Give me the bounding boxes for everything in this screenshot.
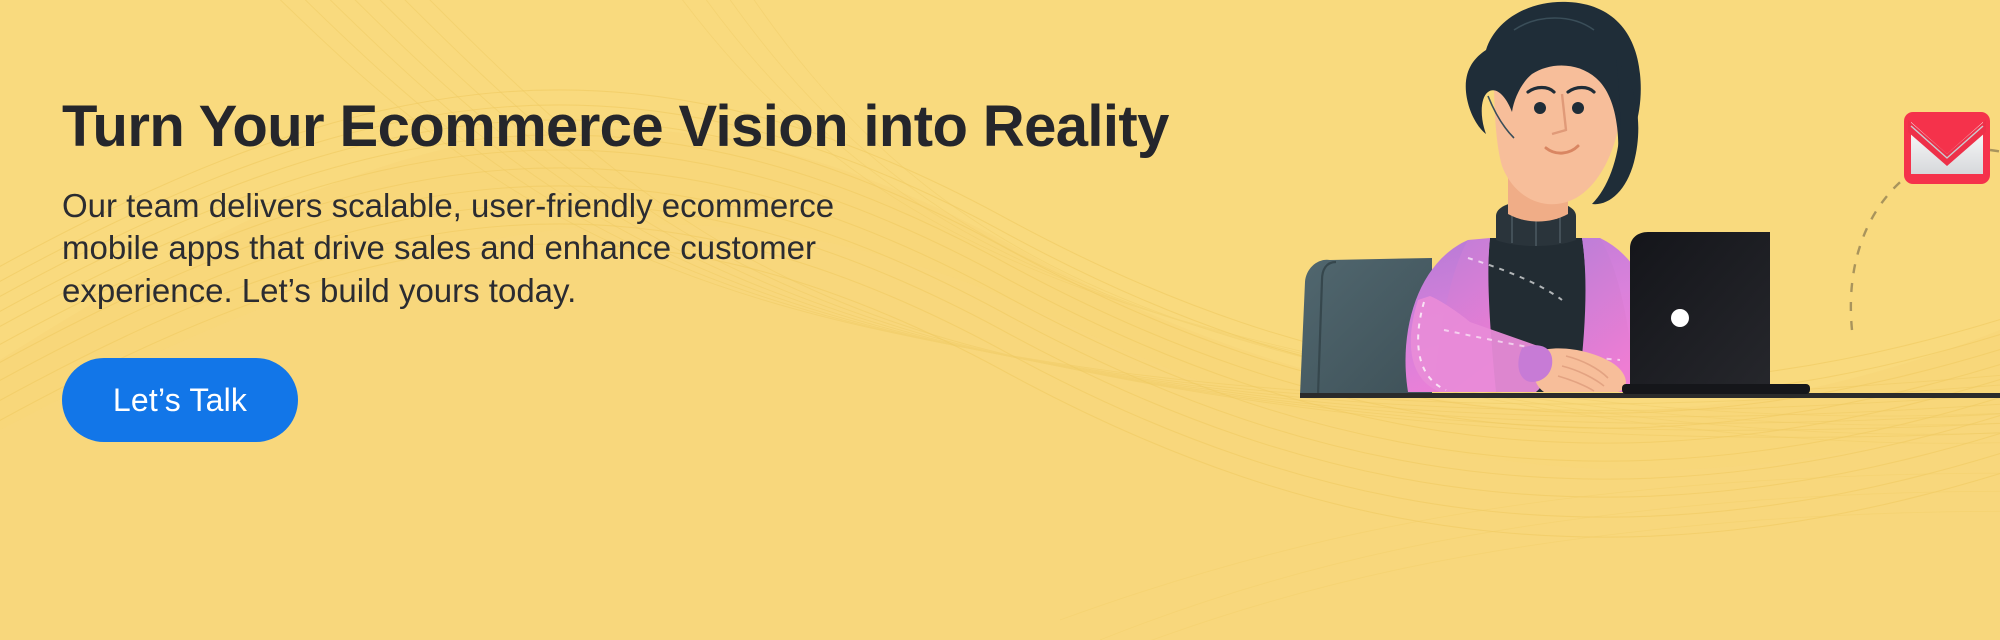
gmail-icon	[1904, 112, 1990, 184]
person-head	[1466, 2, 1641, 222]
banner-content: Turn Your Ecommerce Vision into Reality …	[62, 96, 1062, 442]
cta-banner: Turn Your Ecommerce Vision into Reality …	[0, 0, 2000, 640]
subcopy-line-3: experience. Let’s build yours today.	[62, 272, 576, 309]
illustration-woman-at-laptop	[1300, 0, 2000, 640]
banner-subcopy: Our team delivers scalable, user-friendl…	[62, 185, 862, 313]
lets-talk-button[interactable]: Let’s Talk	[62, 358, 298, 442]
dashed-connector-arc-2	[1990, 150, 2000, 452]
laptop-camera-dot	[1671, 309, 1689, 327]
laptop	[1622, 232, 1810, 394]
subcopy-line-1: Our team delivers scalable, user-friendl…	[62, 187, 834, 224]
page-title: Turn Your Ecommerce Vision into Reality	[62, 96, 1062, 159]
cta-container: Let’s Talk	[62, 358, 1062, 442]
subcopy-line-2: mobile apps that drive sales and enhance…	[62, 229, 816, 266]
